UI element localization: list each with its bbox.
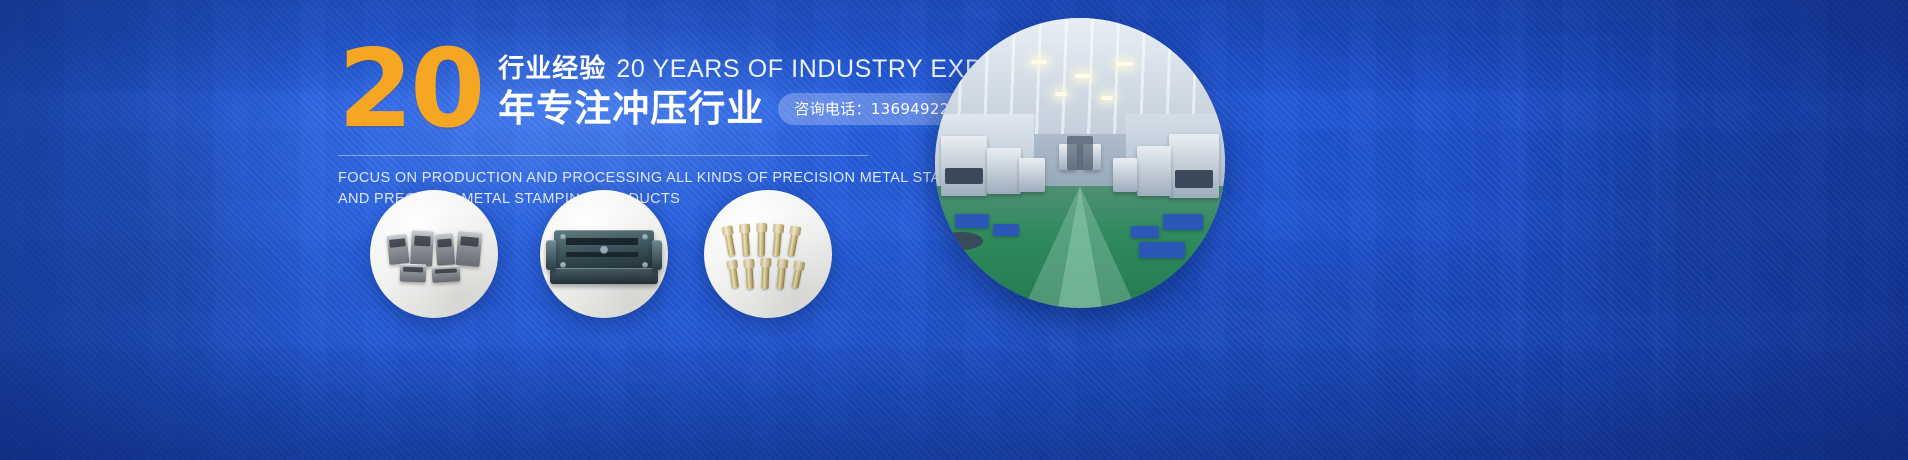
headline-row: 20 行业经验 20 YEARS OF INDUSTRY EXPERIENCE … <box>338 36 898 139</box>
prod1-shading <box>370 190 498 318</box>
years-number: 20 <box>338 40 482 139</box>
stamping-mold-die-photo <box>540 190 668 318</box>
cn-tagline-small: 行业经验 <box>498 48 606 85</box>
promo-banner: 20 行业经验 20 YEARS OF INDUSTRY EXPERIENCE … <box>0 0 1908 460</box>
prod3-shading <box>704 190 832 318</box>
metal-pins-photo <box>704 190 832 318</box>
subtitle-line-1: FOCUS ON PRODUCTION AND PROCESSING ALL K… <box>338 168 898 189</box>
headline-block: 20 行业经验 20 YEARS OF INDUSTRY EXPERIENCE … <box>338 36 898 210</box>
factory-aisle <box>1058 186 1102 308</box>
factory-workshop-photo <box>935 18 1225 308</box>
divider-rule <box>338 155 868 156</box>
metal-connectors-photo <box>370 190 498 318</box>
prod2-shading <box>540 190 668 318</box>
cn-tagline-big: 年专注冲压行业 <box>498 89 764 130</box>
